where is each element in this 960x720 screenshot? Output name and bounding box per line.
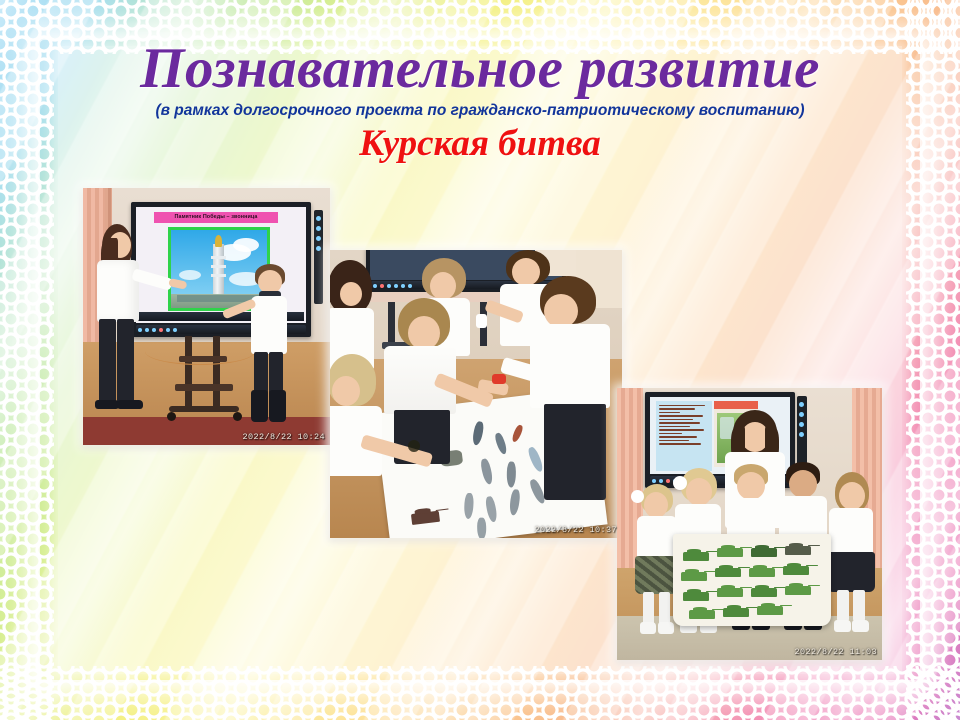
person-child: [526, 276, 622, 506]
page-title: Познавательное развитие: [58, 40, 902, 98]
page-topic: Курская битва: [58, 122, 902, 165]
photo-scene: Памятник Победы – звонница: [83, 188, 330, 445]
whiteboard-banner: Памятник Победы – звонница: [154, 212, 278, 223]
person-child: [827, 472, 877, 638]
photo-timestamp: 2022/8/22 10:37: [534, 525, 617, 535]
photo-whiteboard-lesson[interactable]: Памятник Победы – звонница: [83, 188, 330, 445]
whiteboard-text-panel: [656, 401, 712, 471]
person-child: [330, 354, 398, 524]
photo-tank-poster[interactable]: 2022/8/22 11:03: [617, 388, 882, 660]
slide-canvas: Познавательное развитие (в рамках долгос…: [0, 0, 960, 720]
photo-scene: [617, 388, 882, 660]
photo-collage-aircraft[interactable]: 2022/8/22 10:37: [330, 250, 622, 538]
page-subtitle: (в рамках долгосрочного проекта по гражд…: [58, 102, 902, 120]
photo-timestamp: 2022/8/22 10:24: [242, 432, 325, 442]
person-teacher: [93, 224, 149, 414]
tank-poster: [673, 534, 831, 626]
title-block: Познавательное развитие (в рамках долгос…: [58, 40, 902, 165]
photo-scene: [330, 250, 622, 538]
photo-timestamp: 2022/8/22 11:03: [794, 647, 877, 657]
